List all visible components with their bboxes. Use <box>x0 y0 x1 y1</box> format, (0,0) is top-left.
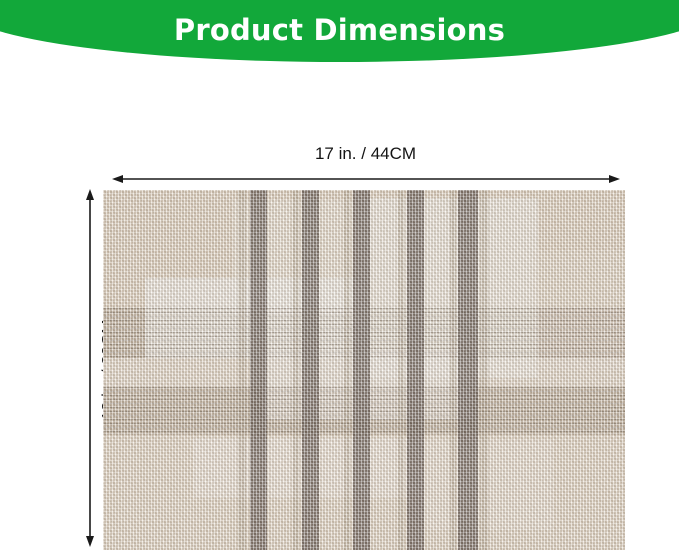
width-dimension-arrow <box>110 170 622 188</box>
header-banner: Product Dimensions <box>0 0 679 70</box>
page-title: Product Dimensions <box>0 13 679 47</box>
mat-weave-texture-diagonal <box>103 190 625 550</box>
product-placemat-image <box>103 190 625 550</box>
width-dimension-label: 17 in. / 44CM <box>113 144 618 164</box>
height-dimension-arrow <box>80 188 100 548</box>
